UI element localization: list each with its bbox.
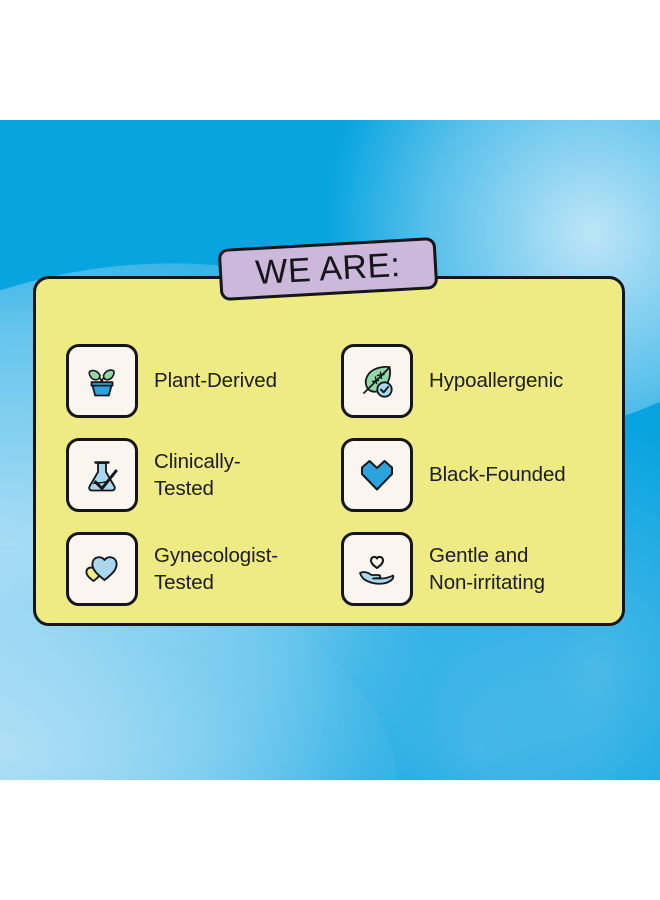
double-heart-icon <box>66 532 138 606</box>
features-grid: Plant-Derived Hypoallergen <box>66 334 598 616</box>
feature-label: Hypoallergenic <box>429 367 563 394</box>
potted-plant-icon <box>66 344 138 418</box>
feature-item-black-founded: Black-Founded <box>341 428 598 522</box>
blue-heart-icon <box>341 438 413 512</box>
feature-label: Plant-Derived <box>154 367 277 394</box>
flask-check-icon <box>66 438 138 512</box>
feature-item-gentle-non-irritating: Gentle and Non-irritating <box>341 522 598 616</box>
feature-label: Black-Founded <box>429 461 566 488</box>
we-are-badge-label: WE ARE: <box>255 248 402 290</box>
feature-label: Gentle and Non-irritating <box>429 542 545 596</box>
feature-item-plant-derived: Plant-Derived <box>66 334 323 428</box>
feature-label: Gynecologist- Tested <box>154 542 278 596</box>
hand-heart-icon <box>341 532 413 606</box>
feature-item-gynecologist-tested: Gynecologist- Tested <box>66 522 323 616</box>
feature-item-clinically-tested: Clinically- Tested <box>66 428 323 522</box>
features-card: Plant-Derived Hypoallergen <box>33 276 625 626</box>
feature-item-hypoallergenic: Hypoallergenic <box>341 334 598 428</box>
feature-label: Clinically- Tested <box>154 448 241 502</box>
promo-graphic: Plant-Derived Hypoallergen <box>0 0 660 900</box>
leaf-check-icon <box>341 344 413 418</box>
